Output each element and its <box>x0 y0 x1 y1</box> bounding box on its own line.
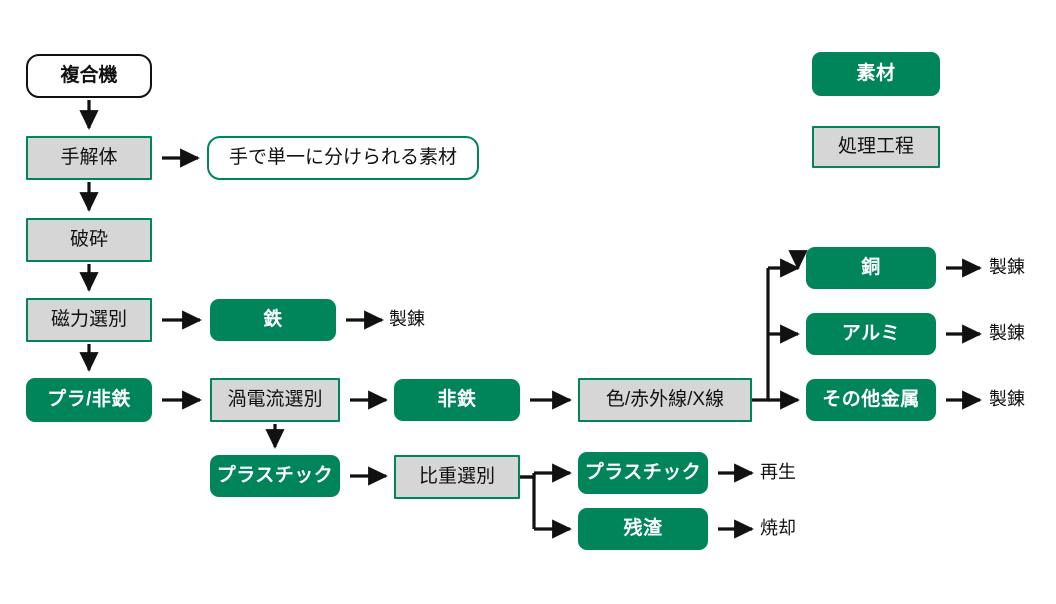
node-iron[interactable]: 鉄 <box>210 299 336 341</box>
node-iron-smelting-label: 製錬 <box>389 310 425 330</box>
legend-material-swatch: 素材 <box>812 52 940 96</box>
node-plastic-nonferrous-label: プラ/非鉄 <box>47 390 131 411</box>
node-manual-dismantle[interactable]: 手解体 <box>26 136 152 180</box>
node-residue[interactable]: 残渣 <box>578 508 708 550</box>
node-plastic-out-label: プラスチック <box>585 463 702 484</box>
node-magnetic-sorting[interactable]: 磁力選別 <box>26 298 152 342</box>
legend-process-swatch: 処理工程 <box>812 126 940 168</box>
node-iron-label: 鉄 <box>263 310 283 331</box>
node-other-metals-label: その他金属 <box>822 390 920 411</box>
node-other-metals-smelting-label: 製錬 <box>989 390 1025 410</box>
node-iron-smelting: 製錬 <box>389 299 479 341</box>
node-recycle: 再生 <box>760 452 840 494</box>
flowchart-canvas: 素材 処理工程 複合機 手解体 破砕 磁力選別 プラ/非鉄 手で単一に分けられる… <box>0 0 1056 604</box>
node-residue-label: 残渣 <box>623 519 662 540</box>
node-color-ir-xray-label: 色/赤外線/X線 <box>606 390 724 411</box>
node-copper-smelting-label: 製錬 <box>989 258 1025 278</box>
node-incineration: 焼却 <box>760 508 840 550</box>
node-aluminum-label: アルミ <box>842 324 900 345</box>
node-eddy-current-sorting-label: 渦電流選別 <box>227 390 322 411</box>
node-magnetic-sorting-label: 磁力選別 <box>51 310 127 331</box>
node-plastic-out[interactable]: プラスチック <box>578 452 708 494</box>
node-other-metals[interactable]: その他金属 <box>806 379 936 421</box>
node-start-mfp-label: 複合機 <box>60 66 117 87</box>
node-nonferrous[interactable]: 非鉄 <box>394 379 520 421</box>
node-crushing-label: 破砕 <box>70 230 108 251</box>
node-hand-separable-material-label: 手で単一に分けられる素材 <box>229 148 457 169</box>
node-crushing[interactable]: 破砕 <box>26 218 152 262</box>
legend-material-label: 素材 <box>856 64 895 85</box>
node-plastic[interactable]: プラスチック <box>210 455 340 497</box>
node-plastic-label: プラスチック <box>217 466 334 487</box>
node-aluminum-smelting-label: 製錬 <box>989 324 1025 344</box>
node-plastic-nonferrous[interactable]: プラ/非鉄 <box>26 378 152 422</box>
node-copper-label: 銅 <box>861 258 881 279</box>
node-copper-smelting: 製錬 <box>989 247 1056 289</box>
node-start-mfp[interactable]: 複合機 <box>26 54 152 98</box>
node-incineration-label: 焼却 <box>760 519 796 539</box>
node-gravity-sorting-label: 比重選別 <box>419 467 495 488</box>
node-eddy-current-sorting[interactable]: 渦電流選別 <box>210 378 340 422</box>
node-color-ir-xray[interactable]: 色/赤外線/X線 <box>578 378 752 422</box>
node-nonferrous-label: 非鉄 <box>437 390 476 411</box>
node-recycle-label: 再生 <box>760 463 796 483</box>
node-aluminum[interactable]: アルミ <box>806 313 936 355</box>
node-hand-separable-material[interactable]: 手で単一に分けられる素材 <box>207 136 479 180</box>
node-aluminum-smelting: 製錬 <box>989 313 1056 355</box>
node-other-metals-smelting: 製錬 <box>989 379 1056 421</box>
node-copper[interactable]: 銅 <box>806 247 936 289</box>
node-gravity-sorting[interactable]: 比重選別 <box>394 455 520 499</box>
node-manual-dismantle-label: 手解体 <box>60 148 117 169</box>
legend-process-label: 処理工程 <box>838 137 914 158</box>
